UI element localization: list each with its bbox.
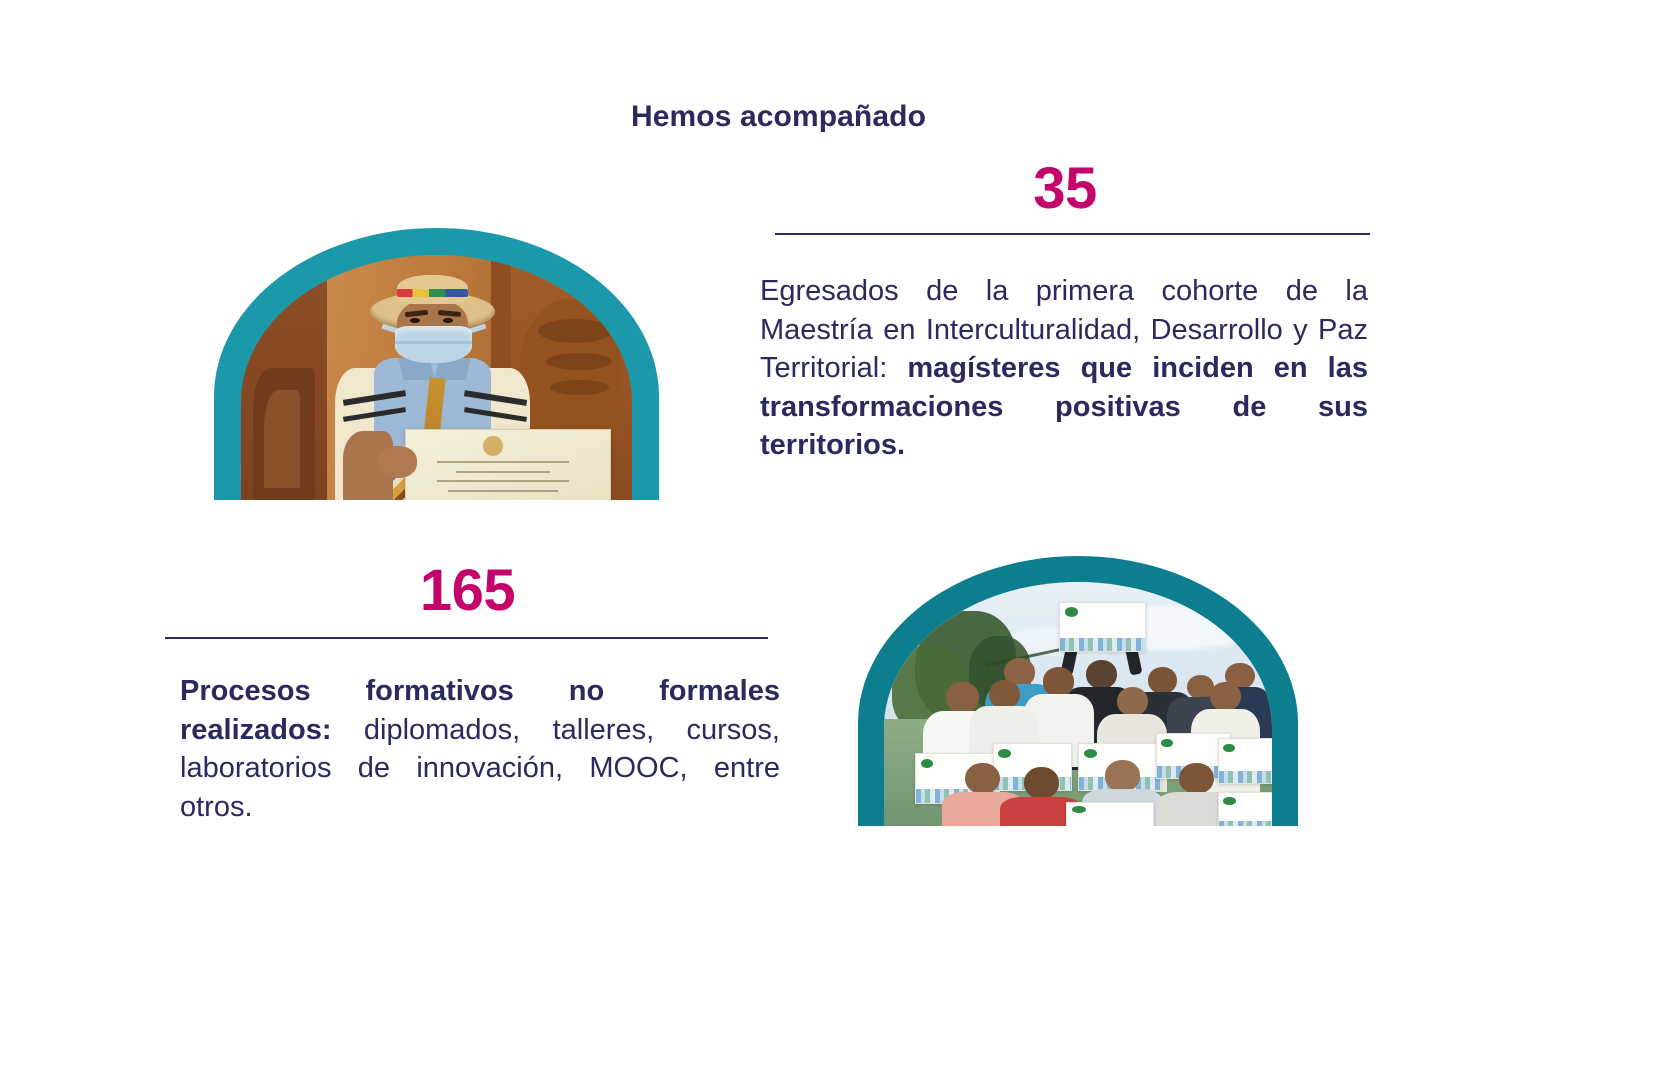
stat-divider-training [165,637,768,639]
photo-group-arch: Grupo de participantes sosteniendo certi… [858,556,1298,826]
photo-graduate-arch: Egresado con sombrero y ruana sosteniend… [214,228,659,500]
page-title-text: Hemos acompañado [631,100,926,133]
photo-group-artwork [884,582,1272,826]
stat-number-graduates: 35 [760,160,1370,218]
stat-description-graduates: Egresados de la primera cohorte de la Ma… [760,272,1368,465]
page-title: Hemos acompañado [0,100,1657,134]
stat-number-training: 165 [165,562,770,620]
infographic-canvas: Hemos acompañado 35 Egresados de la prim… [0,0,1657,1081]
photo-graduate-artwork [241,255,632,500]
photo-graduate-image: Egresado con sombrero y ruana sosteniend… [241,255,632,500]
photo-group-image: Grupo de participantes sosteniendo certi… [884,582,1272,826]
stat-divider-graduates [775,233,1370,235]
stat-description-training: Procesos formativos no formales realizad… [180,672,780,826]
